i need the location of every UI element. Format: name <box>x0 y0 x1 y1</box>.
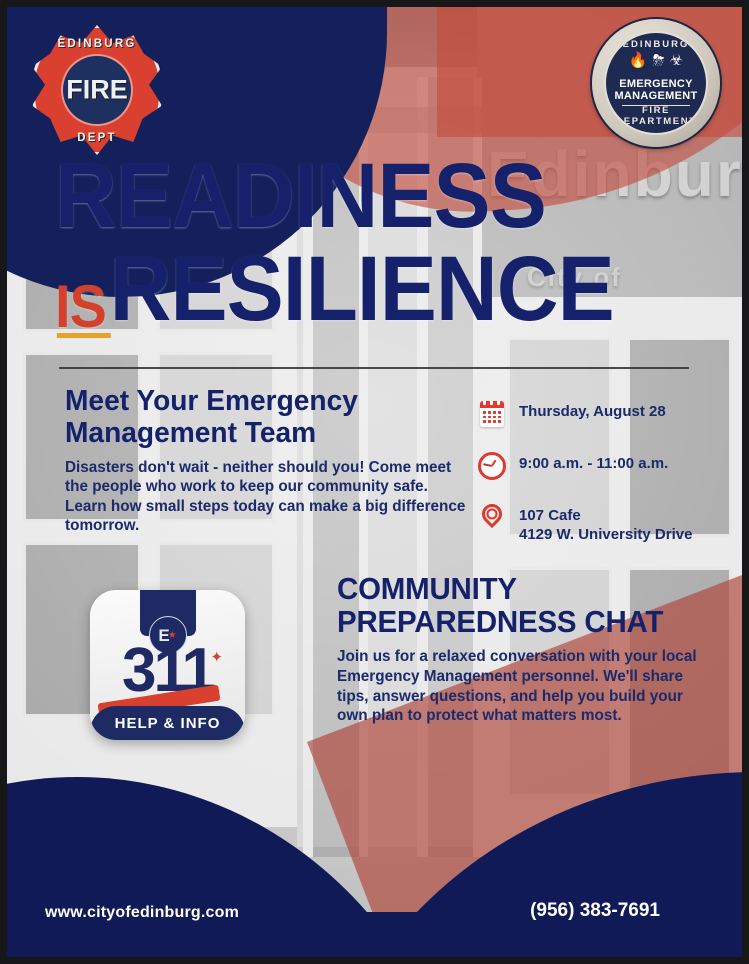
headline-connector-wrap: IS <box>55 284 106 331</box>
calendar-body <box>480 401 504 427</box>
seal-title-line2: MANAGEMENT <box>610 91 703 102</box>
311-star-icon: ✦ <box>210 648 223 666</box>
headline-block: READINESS IS RESILIENCE <box>55 155 705 331</box>
meet-team-heading: Meet Your Emergency Management Team <box>65 385 385 450</box>
event-detail-time: 9:00 a.m. - 11:00 a.m. <box>477 451 727 481</box>
event-detail-location: 107 Cafe 4129 W. University Drive <box>477 503 727 544</box>
calendar-icon <box>477 399 507 429</box>
headline-connector: IS <box>55 284 106 331</box>
headline-line-1: READINESS <box>55 155 660 238</box>
clock-face <box>478 452 506 480</box>
headline-connector-underline <box>57 333 111 338</box>
emergency-management-seal: EDINBURG 🔥 ⛈ ☣ EMERGENCY MANAGEMENT FIRE… <box>592 19 720 147</box>
fire-logo-arc-top: EDINBURG <box>32 38 162 50</box>
event-details-list: Thursday, August 28 9:00 a.m. - 11:00 a.… <box>477 399 727 566</box>
community-chat-heading: COMMUNITY PREPAREDNESS CHAT <box>337 572 698 638</box>
headline-line-2-row: IS RESILIENCE <box>55 248 660 331</box>
seal-title-line1: EMERGENCY <box>610 79 703 90</box>
seal-arc-top: EDINBURG <box>606 39 707 50</box>
event-detail-date: Thursday, August 28 <box>477 399 727 429</box>
flame-icon: 🔥 <box>629 53 648 68</box>
311-caption-text: HELP & INFO <box>115 715 221 732</box>
location-pin-icon <box>477 503 507 533</box>
311-app-icon: E ★ 311 ✦ HELP & INFO <box>90 590 245 740</box>
seal-core: EDINBURG 🔥 ⛈ ☣ EMERGENCY MANAGEMENT FIRE… <box>604 31 709 136</box>
seal-hazard-icons: 🔥 ⛈ ☣ <box>606 53 707 68</box>
edinburg-fire-dept-logo: EDINBURG FIRE DEPT <box>32 25 162 155</box>
event-date-text: Thursday, August 28 <box>519 399 666 422</box>
footer-website[interactable]: www.cityofedinburg.com <box>45 904 239 922</box>
community-chat-body: Join us for a relaxed conversation with … <box>337 647 717 726</box>
clock-icon <box>477 451 507 481</box>
footer-phone[interactable]: (956) 383-7691 <box>530 900 660 922</box>
meet-team-body: Disasters don't wait - neither should yo… <box>65 458 470 536</box>
pin-shape <box>478 500 506 528</box>
seal-arc-bottom: FIRE DEPARTMENT <box>606 105 707 127</box>
event-location-text: 107 Cafe 4129 W. University Drive <box>519 503 692 544</box>
headline-line-2: RESILIENCE <box>110 248 614 331</box>
fire-logo-center-text: FIRE <box>32 75 162 106</box>
storm-cloud-icon: ⛈ <box>653 53 665 68</box>
meet-team-block: Meet Your Emergency Management Team Disa… <box>65 385 395 536</box>
headline-divider-rule <box>59 367 689 369</box>
flyer-inner: Edinburg City of EDINBURG FIRE DEPT EDIN… <box>7 7 742 957</box>
calendar-rings <box>483 401 504 405</box>
flyer-canvas: Edinburg City of EDINBURG FIRE DEPT EDIN… <box>0 0 749 964</box>
biohazard-icon: ☣ <box>670 53 683 68</box>
community-chat-block: COMMUNITY PREPAREDNESS CHAT Join us for … <box>337 572 717 726</box>
event-time-text: 9:00 a.m. - 11:00 a.m. <box>519 451 668 474</box>
calendar-day-grid <box>483 411 501 423</box>
fire-logo-arc-bottom: DEPT <box>32 132 162 144</box>
311-caption-bar: HELP & INFO <box>90 706 245 740</box>
